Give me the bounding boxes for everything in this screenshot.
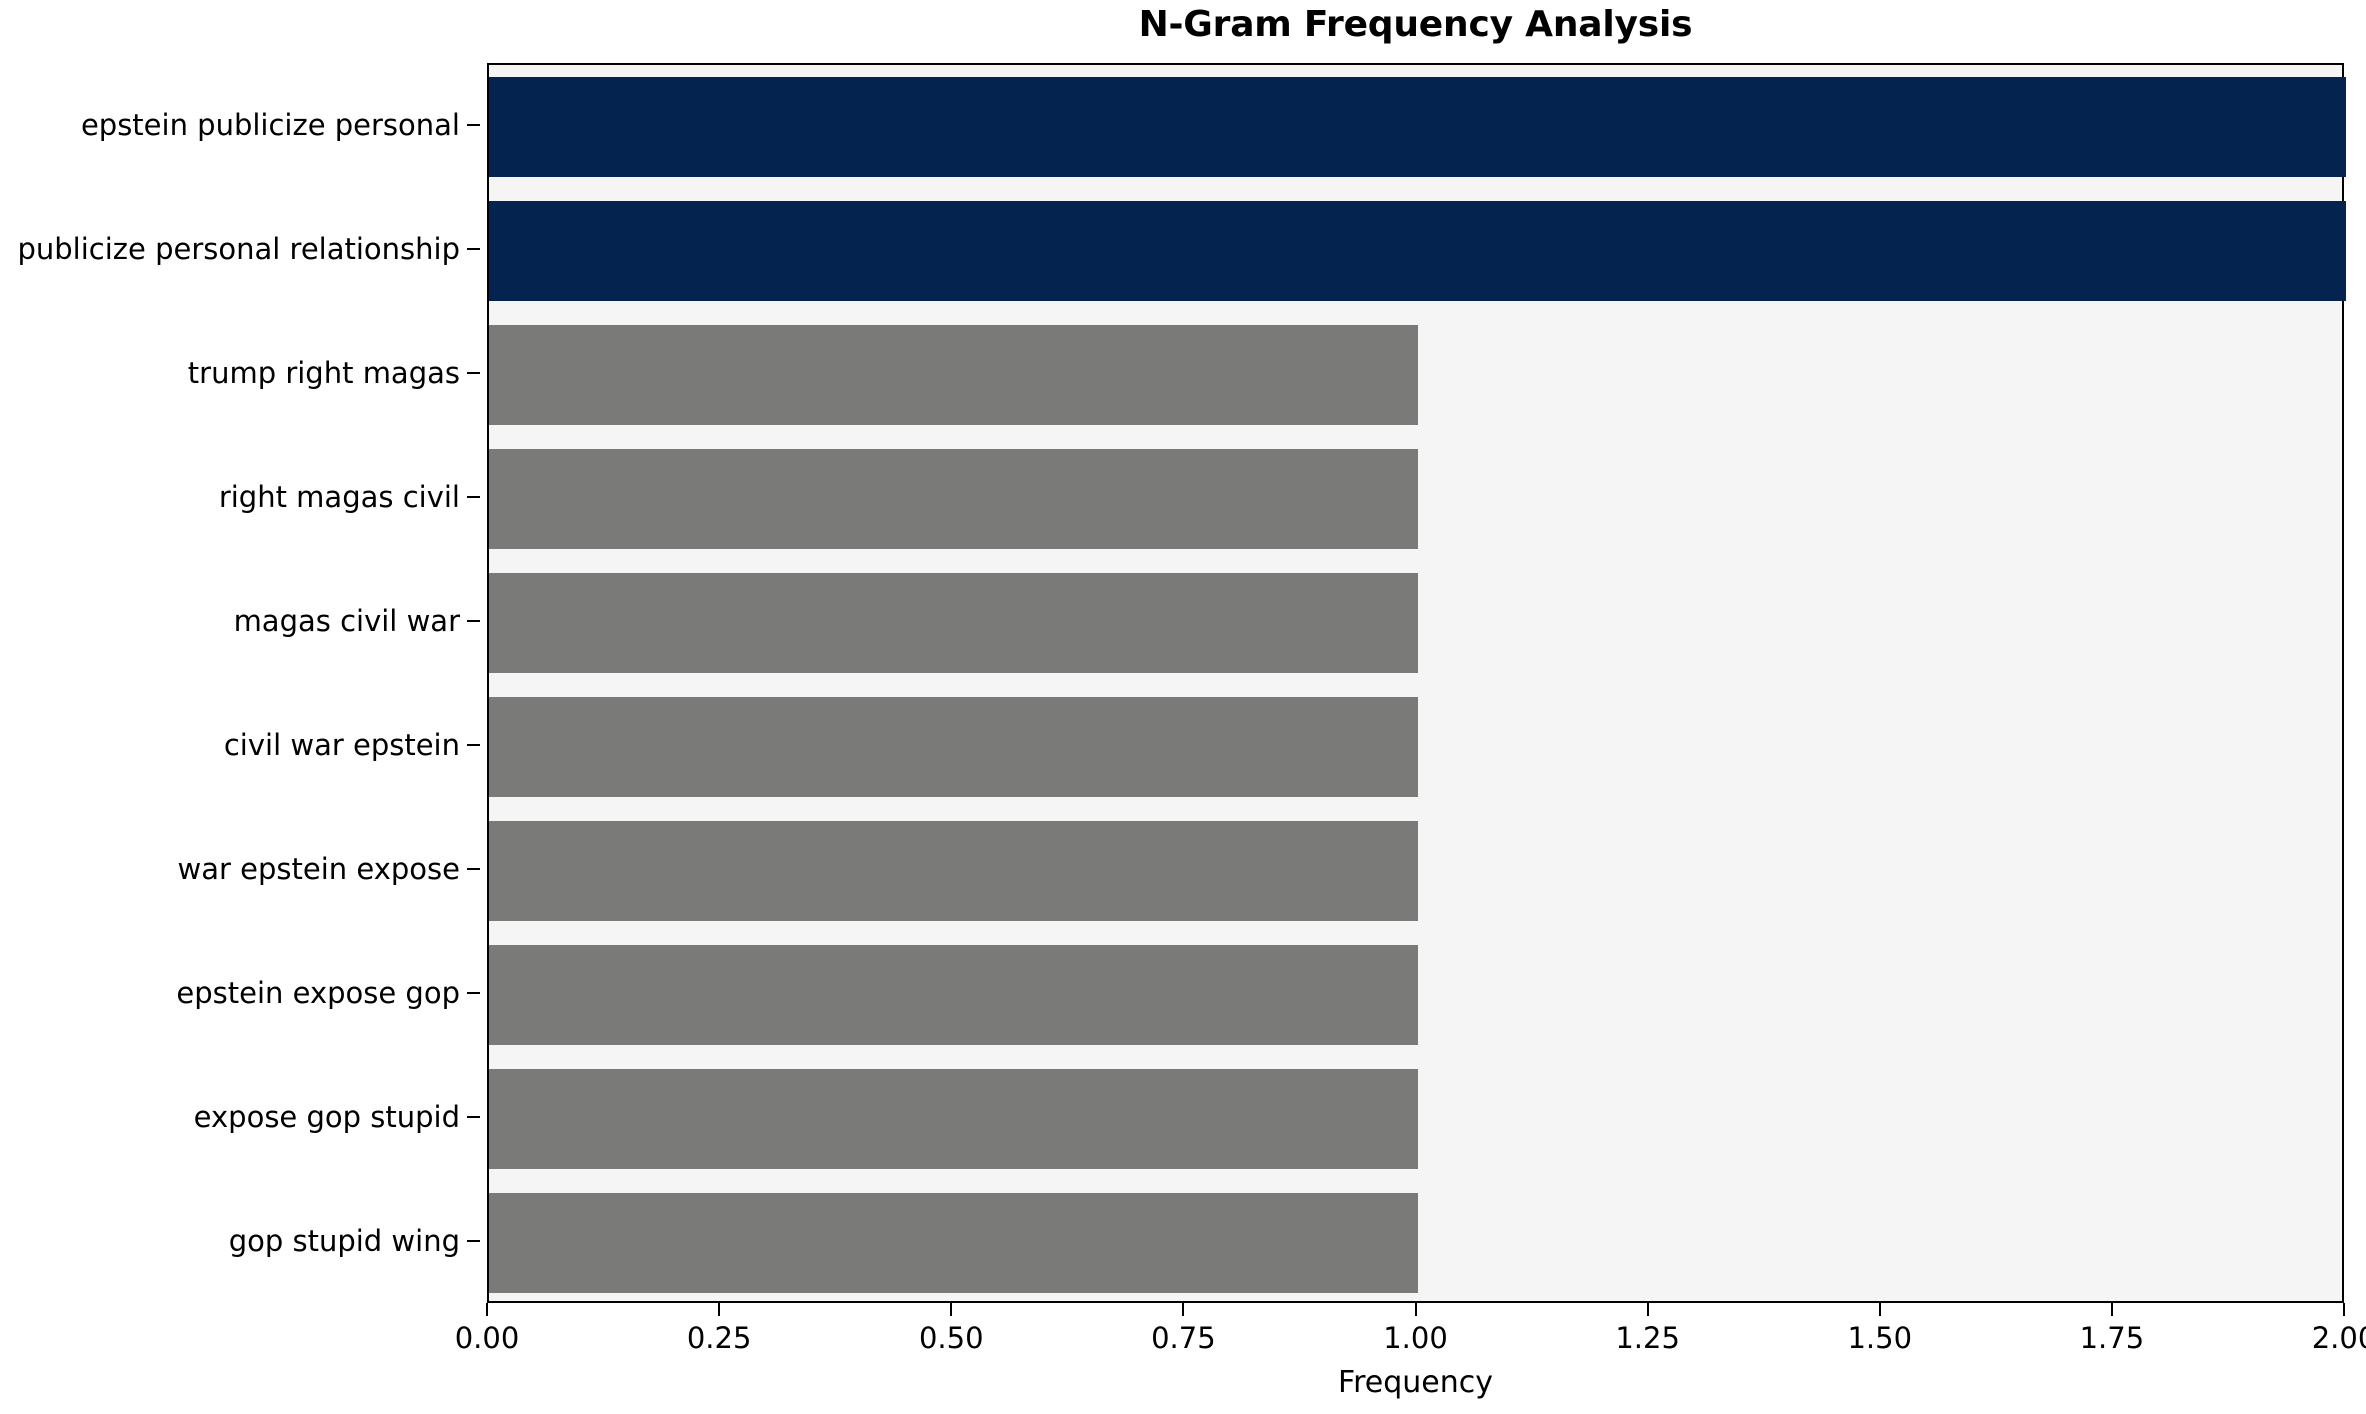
y-tick-mark: [467, 744, 480, 746]
bar: [489, 573, 1418, 672]
y-tick-label: right magas civil: [219, 481, 460, 513]
x-tick-label: 0.00: [455, 1321, 520, 1355]
chart-figure: N-Gram Frequency Analysis epstein public…: [0, 0, 2366, 1414]
bar: [489, 325, 1418, 424]
bar: [489, 1069, 1418, 1168]
y-tick-label: civil war epstein: [224, 729, 460, 761]
y-tick-mark: [467, 496, 480, 498]
x-tick-label: 1.00: [1383, 1321, 1448, 1355]
y-tick-label: war epstein expose: [178, 853, 460, 885]
bar: [489, 697, 1418, 796]
y-tick-label: epstein publicize personal: [81, 109, 460, 141]
y-tick-mark: [467, 868, 480, 870]
x-axis: Frequency 0.000.250.500.751.001.251.501.…: [487, 1303, 2344, 1414]
x-tick-mark: [1647, 1303, 1649, 1316]
x-tick-mark: [486, 1303, 488, 1316]
x-tick-mark: [1182, 1303, 1184, 1316]
bar: [489, 201, 2346, 300]
bar: [489, 77, 2346, 176]
plot-area: [487, 63, 2344, 1303]
bar: [489, 821, 1418, 920]
y-tick-label: trump right magas: [188, 357, 460, 389]
bars-layer: [489, 65, 2342, 1301]
y-tick-label: expose gop stupid: [194, 1101, 460, 1133]
x-tick-label: 0.50: [919, 1321, 984, 1355]
y-tick-mark: [467, 992, 480, 994]
x-tick-mark: [2343, 1303, 2345, 1316]
x-tick-mark: [2111, 1303, 2113, 1316]
x-tick-label: 1.50: [1847, 1321, 1912, 1355]
y-tick-label: gop stupid wing: [229, 1225, 460, 1257]
bar: [489, 1193, 1418, 1292]
x-tick-label: 0.25: [687, 1321, 752, 1355]
y-tick-mark: [467, 1240, 480, 1242]
y-tick-mark: [467, 248, 480, 250]
x-tick-mark: [950, 1303, 952, 1316]
x-tick-label: 1.25: [1615, 1321, 1680, 1355]
x-tick-mark: [718, 1303, 720, 1316]
y-tick-mark: [467, 372, 480, 374]
x-axis-label: Frequency: [487, 1365, 2344, 1400]
bar: [489, 449, 1418, 548]
y-tick-label: magas civil war: [234, 605, 460, 637]
y-tick-mark: [467, 620, 480, 622]
x-tick-label: 1.75: [2080, 1321, 2145, 1355]
x-tick-mark: [1879, 1303, 1881, 1316]
x-tick-label: 2.00: [2312, 1321, 2366, 1355]
x-tick-label: 0.75: [1151, 1321, 1216, 1355]
y-axis: epstein publicize personalpublicize pers…: [0, 63, 487, 1303]
y-tick-label: publicize personal relationship: [17, 233, 460, 265]
y-tick-label: epstein expose gop: [176, 977, 460, 1009]
x-tick-mark: [1415, 1303, 1417, 1316]
y-tick-mark: [467, 1116, 480, 1118]
y-tick-mark: [467, 124, 480, 126]
chart-title: N-Gram Frequency Analysis: [487, 2, 2344, 48]
bar: [489, 945, 1418, 1044]
